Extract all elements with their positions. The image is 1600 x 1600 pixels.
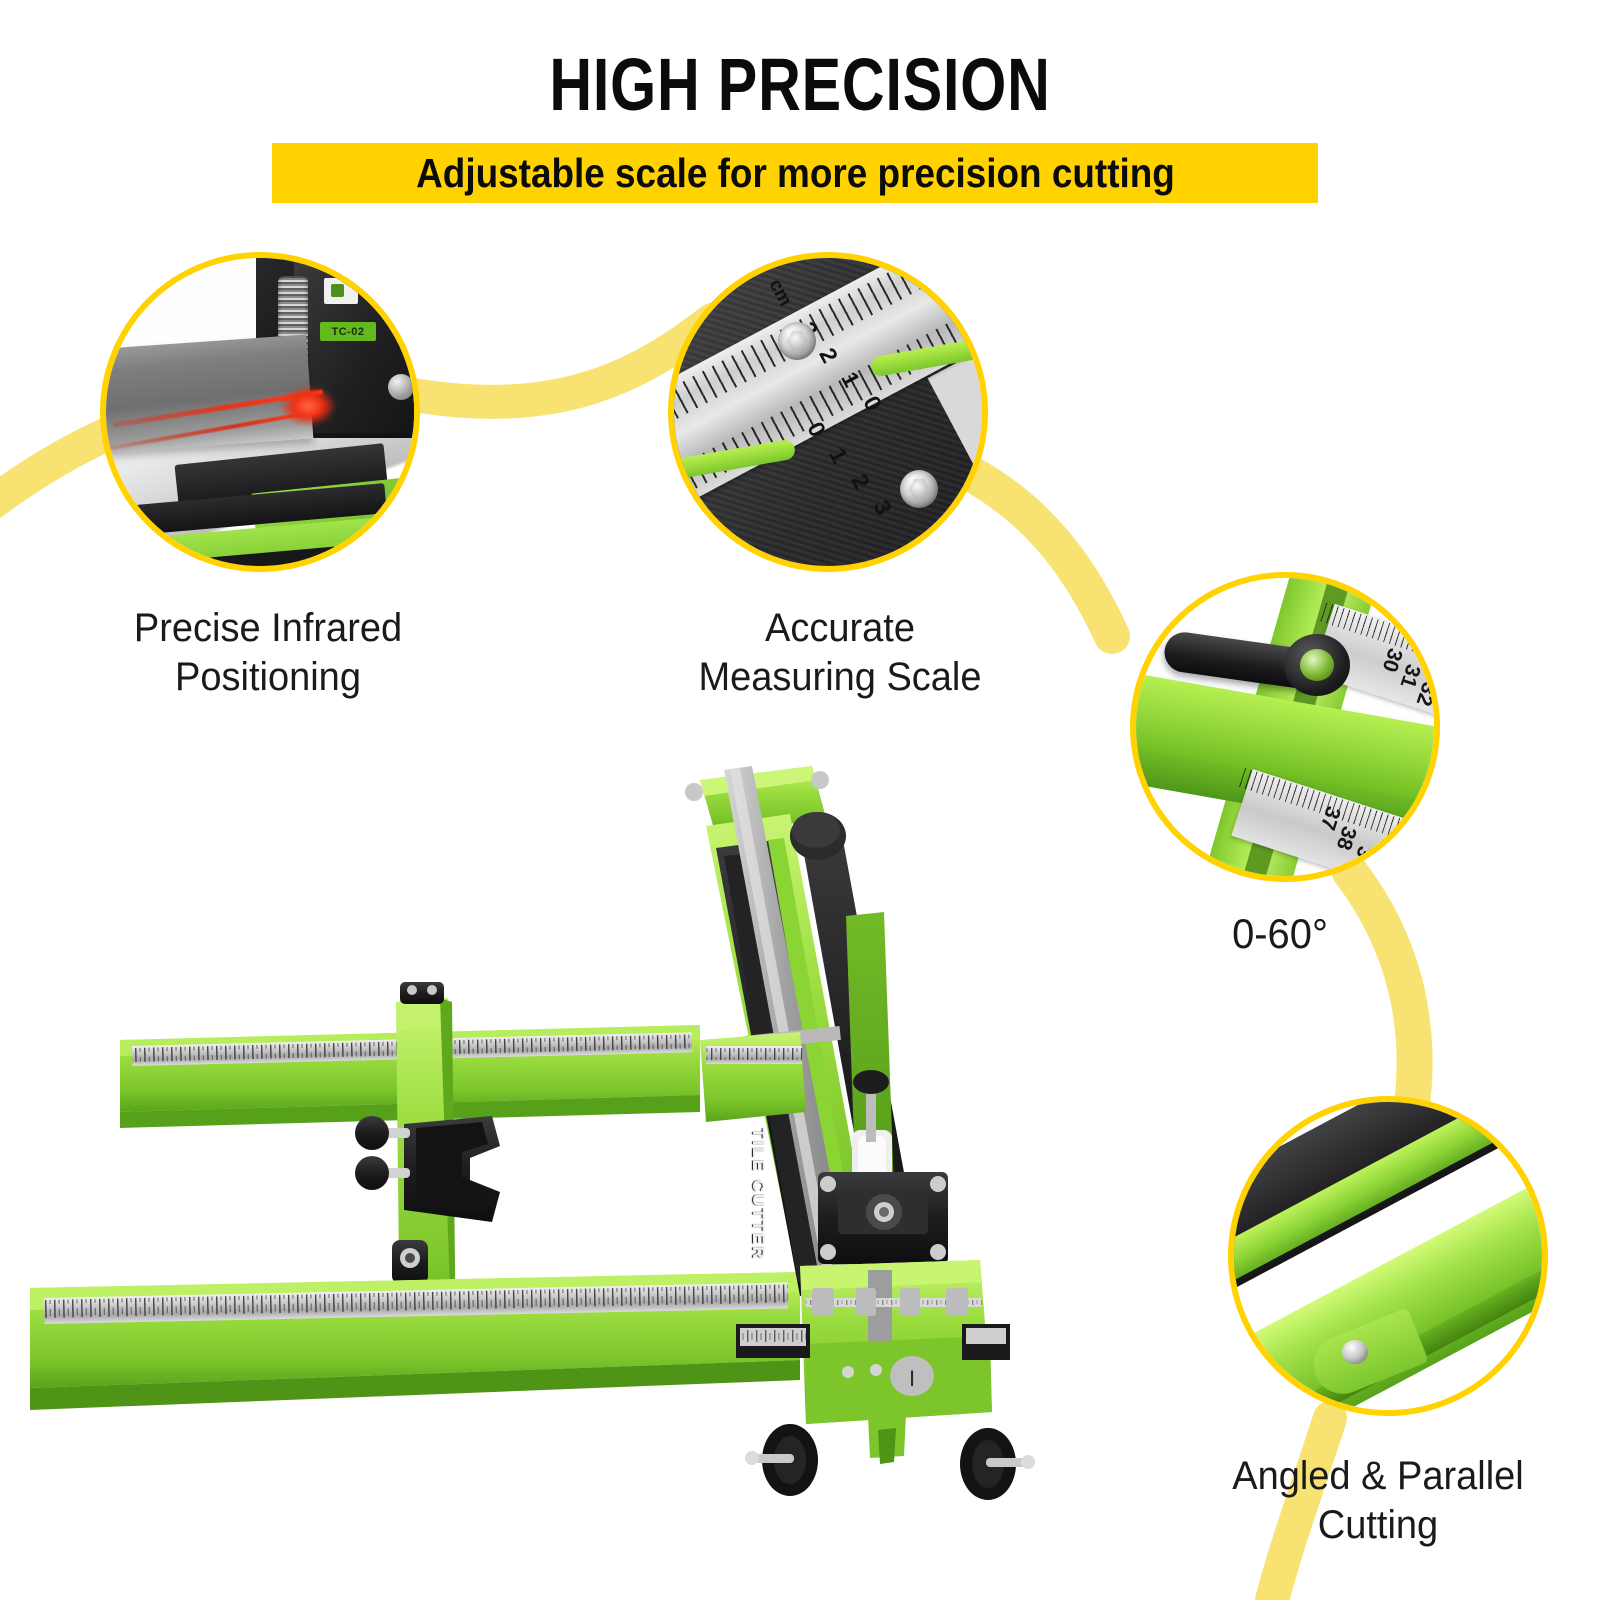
callout-angle-caption: 0-60° xyxy=(1157,908,1404,959)
breaker-mechanism-block xyxy=(818,1172,948,1264)
callout-angled-caption: Angled & Parallel Cutting xyxy=(1169,1452,1587,1550)
caption-line-1: Angled & Parallel xyxy=(1169,1452,1587,1501)
caption-line-2: Positioning xyxy=(78,653,458,702)
hex-screw-lower xyxy=(900,470,938,508)
callout-infrared-caption: Precise Infrared Positioning xyxy=(78,604,458,702)
laser-glow xyxy=(280,386,336,426)
caption-line-2: Cutting xyxy=(1169,1501,1587,1550)
caption-line-1: Precise Infrared xyxy=(78,604,458,653)
product-image-tile-cutter: I xyxy=(0,740,1100,1560)
callout-angle-lock[interactable]: 30 31 32 37 38 39 40 xyxy=(1130,572,1440,882)
product-wheels xyxy=(745,1414,1035,1500)
callout-angled-parallel[interactable] xyxy=(1228,1096,1548,1416)
svg-text:I: I xyxy=(909,1366,915,1391)
caption-line-1: 0-60° xyxy=(1157,908,1404,959)
subtitle-banner: Adjustable scale for more precision cutt… xyxy=(272,143,1318,203)
retaining-screw xyxy=(1342,1340,1368,1364)
callout-infrared[interactable]: TC-02 xyxy=(100,252,420,572)
module-sticker xyxy=(324,278,358,304)
caption-line-1: Accurate xyxy=(650,604,1030,653)
hex-screw-upper xyxy=(778,322,816,360)
tile-clamp-assembly[interactable] xyxy=(355,1116,500,1222)
callout-measuring-caption: Accurate Measuring Scale xyxy=(650,604,1030,702)
head-rail-junction xyxy=(700,1032,806,1122)
model-tag: TC-02 xyxy=(320,322,376,341)
caption-line-2: Measuring Scale xyxy=(650,653,1030,702)
product-front-rail xyxy=(30,1272,800,1410)
subtitle-text: Adjustable scale for more precision cutt… xyxy=(416,150,1175,197)
hex-bolt xyxy=(388,374,414,400)
product-brand-text: TILE CUTTER xyxy=(748,1128,768,1261)
page-title: HIGH PRECISION xyxy=(160,42,1440,127)
lever-pivot-hub xyxy=(1284,634,1350,696)
callout-measuring-scale[interactable]: cm 3 2 1 0 0 1 2 3 xyxy=(668,252,988,572)
cross-bar-slider-lock[interactable] xyxy=(392,1240,428,1284)
infographic-canvas: HIGH PRECISION Adjustable scale for more… xyxy=(0,0,1600,1600)
cross-bar-top-cap xyxy=(400,982,444,1004)
